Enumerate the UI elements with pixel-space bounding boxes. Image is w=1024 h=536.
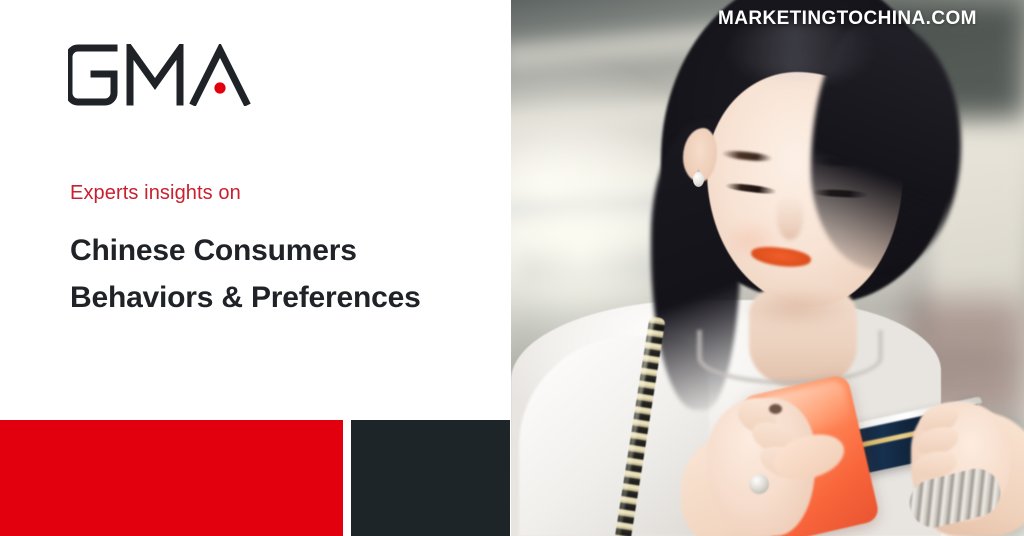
subject-nose — [777, 196, 803, 240]
gma-logo[interactable] — [68, 44, 268, 106]
subject-fingernail — [769, 404, 782, 414]
left-content-panel: Experts insights on Chinese Consumers Be… — [0, 0, 512, 536]
finger-ring — [749, 474, 769, 494]
pearl-earring-icon — [693, 172, 704, 187]
hero-photo — [511, 0, 1024, 536]
headline-line-1: Chinese Consumers — [70, 228, 500, 275]
eyebrow-text: Experts insights on — [70, 181, 241, 205]
headline-line-2: Behaviors & Preferences — [70, 275, 500, 322]
page-title: Chinese Consumers Behaviors & Preference… — [70, 228, 500, 321]
accent-bar-dark — [351, 420, 510, 536]
banner-canvas: Experts insights on Chinese Consumers Be… — [0, 0, 1024, 536]
accent-bar-red — [0, 420, 343, 536]
shirt-collar — [697, 330, 883, 385]
logo-dot — [214, 82, 225, 93]
site-url-label[interactable]: MARKETINGTOCHINA.COM — [718, 8, 977, 30]
subject-chin-shadow — [741, 288, 851, 328]
